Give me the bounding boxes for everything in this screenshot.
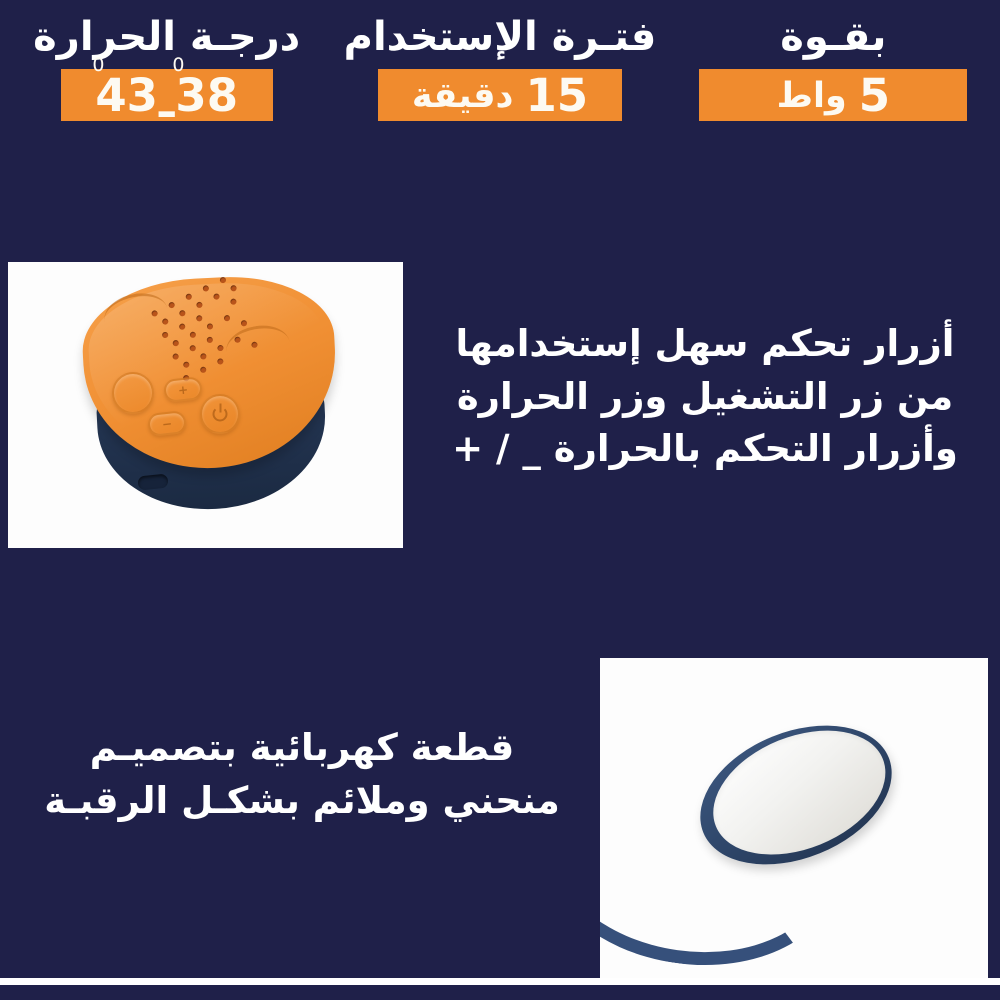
vent-dot [199, 352, 207, 360]
spec-card-temperature: درجـة الحرارة 0 43 ـ 0 38 [0, 0, 333, 121]
temperature-high: 0 43 [95, 73, 158, 118]
power-button[interactable] [200, 394, 240, 434]
vent-dot [206, 322, 214, 330]
spec-card-power: بقـوة 5 واط [667, 0, 1000, 121]
feature-1-line-1: أزرار تحكم سهل إستخدامها [420, 318, 990, 371]
vent-dot [250, 341, 258, 349]
vent-dot [206, 336, 214, 344]
vent-dot [168, 301, 176, 309]
vent-dot [195, 301, 203, 309]
spec-card-usage-duration: فتـرة الإستخدام 15 دقيقة [333, 0, 666, 121]
vent-dot [195, 314, 203, 322]
vent-dot [223, 314, 231, 322]
vent-dot [161, 331, 169, 339]
feature-2-line-2: منحني وملائم بشكـل الرقبـة [12, 775, 592, 828]
feature-text-curved-neck-piece: قطعة كهربائية بتصميـم منحني وملائم بشكـل… [12, 722, 592, 827]
power-icon [213, 407, 228, 422]
feature-text-control-buttons: أزرار تحكم سهل إستخدامها من زر التشغيل و… [420, 318, 990, 476]
vent-dot [178, 323, 186, 331]
minus-icon: − [161, 417, 172, 430]
temperature-low: 0 38 [175, 73, 238, 118]
product-photo-neck-pad [600, 658, 988, 978]
controller-illustration: + − [8, 262, 403, 548]
feature-1-line-2: من زر التشغيل وزر الحرارة [420, 371, 990, 424]
vent-dot [216, 344, 224, 352]
spec-badge-temperature: 0 43 ـ 0 38 [61, 69, 273, 121]
vent-dot [151, 309, 159, 317]
temperature-low-value: 38 [175, 69, 238, 122]
spec-badge-usage-duration: 15 دقيقة [378, 69, 622, 121]
spec-unit-power: واط [777, 79, 847, 114]
feature-2-line-1: قطعة كهربائية بتصميـم [12, 722, 592, 775]
infographic-page: بقـوة 5 واط فتـرة الإستخدام 15 دقيقة درج… [0, 0, 1000, 1000]
spec-badge-power: 5 واط [699, 69, 967, 121]
degree-symbol-high: 0 [92, 56, 104, 75]
bottom-white-divider [0, 978, 1000, 985]
plus-icon: + [177, 383, 188, 396]
vent-dot [172, 353, 180, 361]
vent-dot [240, 319, 248, 327]
vent-dot [189, 344, 197, 352]
vent-dot [229, 298, 237, 306]
bottom-navy-strip [0, 985, 1000, 1000]
temperature-separator: ـ [159, 79, 174, 124]
vent-dot [172, 339, 180, 347]
vent-dot [230, 284, 238, 292]
vent-dot [216, 357, 224, 365]
spec-value-power: 5 [859, 73, 890, 118]
temperature-range: 0 43 ـ 0 38 [95, 73, 238, 118]
vent-dot [178, 309, 186, 317]
vent-dot [189, 331, 197, 339]
temperature-high-value: 43 [95, 69, 158, 122]
vent-dot [199, 366, 207, 374]
neck-pad-illustration [600, 658, 988, 978]
spec-title-power: بقـوة [780, 14, 886, 60]
vent-dot [185, 293, 193, 301]
product-photo-controller: + − [8, 262, 403, 548]
spec-value-usage-duration: 15 [526, 73, 589, 118]
feature-1-line-3: وأزرار التحكم بالحرارة _ / + [420, 423, 990, 476]
degree-symbol-low: 0 [172, 56, 184, 75]
spec-title-temperature: درجـة الحرارة [33, 14, 300, 60]
vent-dot [202, 284, 210, 292]
vent-dot [234, 336, 242, 344]
vent-dot [219, 276, 227, 284]
spec-strip: بقـوة 5 واط فتـرة الإستخدام 15 دقيقة درج… [0, 0, 1000, 175]
vent-dot [182, 361, 190, 369]
spec-unit-usage-duration: دقيقة [412, 79, 514, 114]
mode-button[interactable] [112, 372, 154, 414]
vent-dot [161, 318, 169, 326]
spec-title-usage-duration: فتـرة الإستخدام [344, 14, 657, 60]
vent-dot [212, 293, 220, 301]
